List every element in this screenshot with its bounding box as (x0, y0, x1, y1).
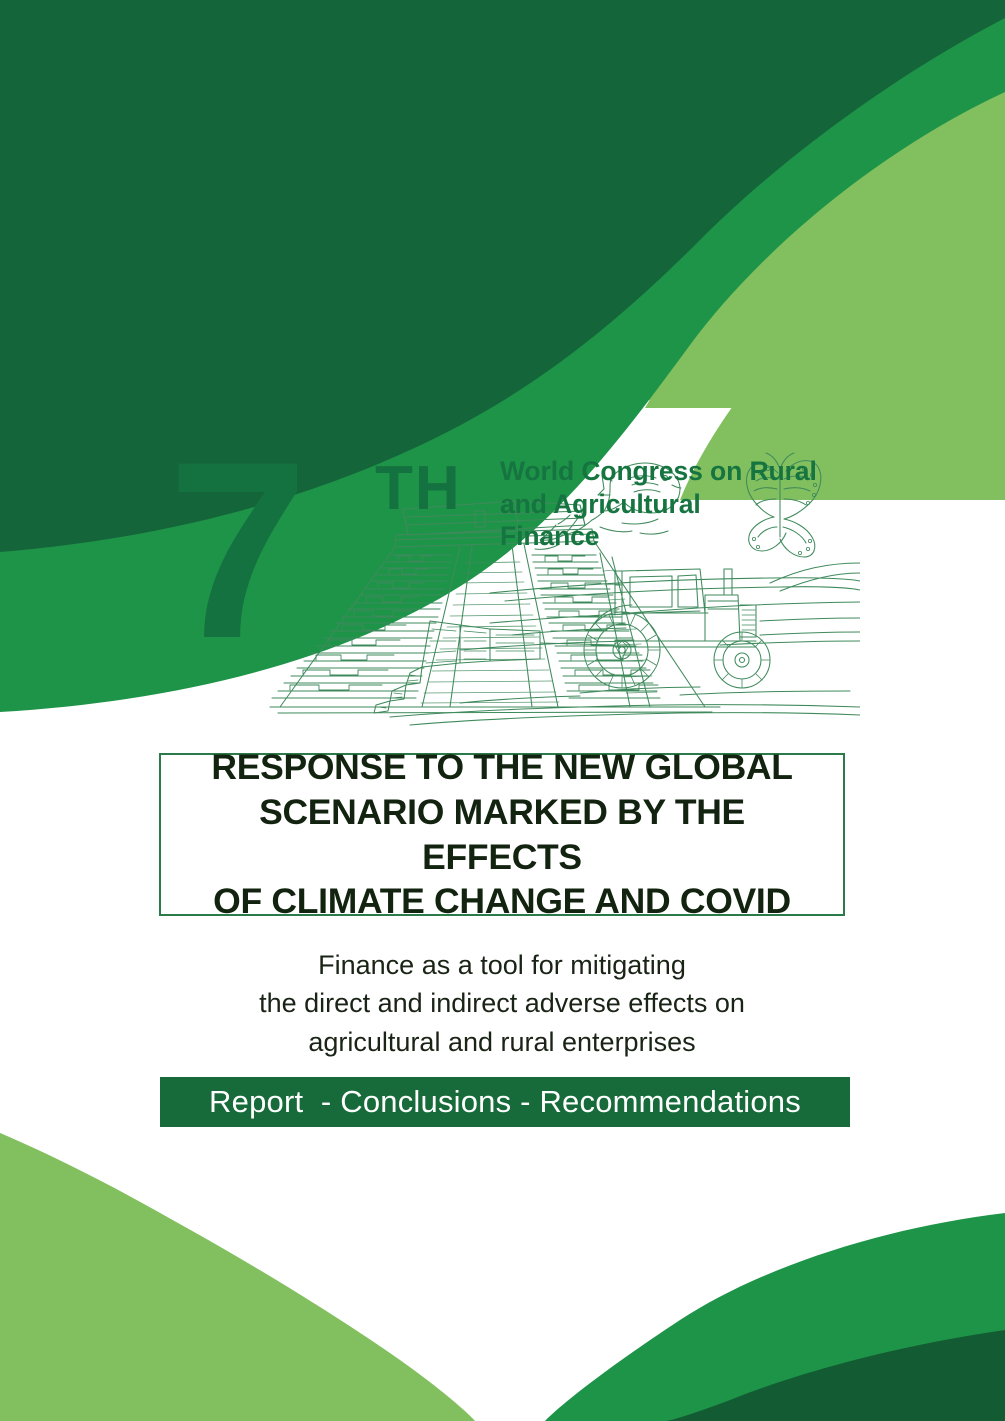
page-title: RESPONSE TO THE NEW GLOBAL SCENARIO MARK… (161, 745, 843, 924)
bottom-wave-dark-shape (665, 1330, 1005, 1421)
page-subtitle-line3: agricultural and rural enterprises (159, 1023, 845, 1061)
logo-ordinal-suffix: TH (375, 458, 462, 520)
logo-congress-name: World Congress on Rural and Agricultural… (500, 455, 870, 553)
logo-ordinal-number: 7 (168, 453, 302, 650)
report-type-banner-label: Report - Conclusions - Recommendations (209, 1084, 801, 1120)
congress-logo: 7 TH World Congress on Rural and Agricul… (160, 445, 860, 730)
report-type-banner: Report - Conclusions - Recommendations (160, 1077, 850, 1127)
logo-congress-name-line2: and Agricultural (500, 488, 870, 521)
page-subtitle-line1: Finance as a tool for mitigating (159, 946, 845, 984)
page-subtitle-line2: the direct and indirect adverse effects … (159, 984, 845, 1022)
logo-congress-name-line1: World Congress on Rural (500, 455, 870, 488)
bottom-wave-light-shape (0, 1133, 470, 1421)
page-title-line1: RESPONSE TO THE NEW GLOBAL (179, 745, 825, 790)
bottom-wave-light-shape-b (0, 1133, 475, 1421)
cover-page: 7 TH World Congress on Rural and Agricul… (0, 0, 1005, 1421)
logo-congress-name-line3: Finance (500, 520, 870, 553)
bottom-wave-mid-shape (545, 1213, 1005, 1421)
page-subtitle: Finance as a tool for mitigating the dir… (159, 946, 845, 1061)
page-title-line2: SCENARIO MARKED BY THE EFFECTS (179, 790, 825, 879)
page-title-line3: OF CLIMATE CHANGE AND COVID (179, 879, 825, 924)
top-wave-light-shape-b (645, 88, 1005, 408)
main-title-frame: RESPONSE TO THE NEW GLOBAL SCENARIO MARK… (159, 753, 845, 916)
top-wave-light-shape (640, 88, 1005, 400)
